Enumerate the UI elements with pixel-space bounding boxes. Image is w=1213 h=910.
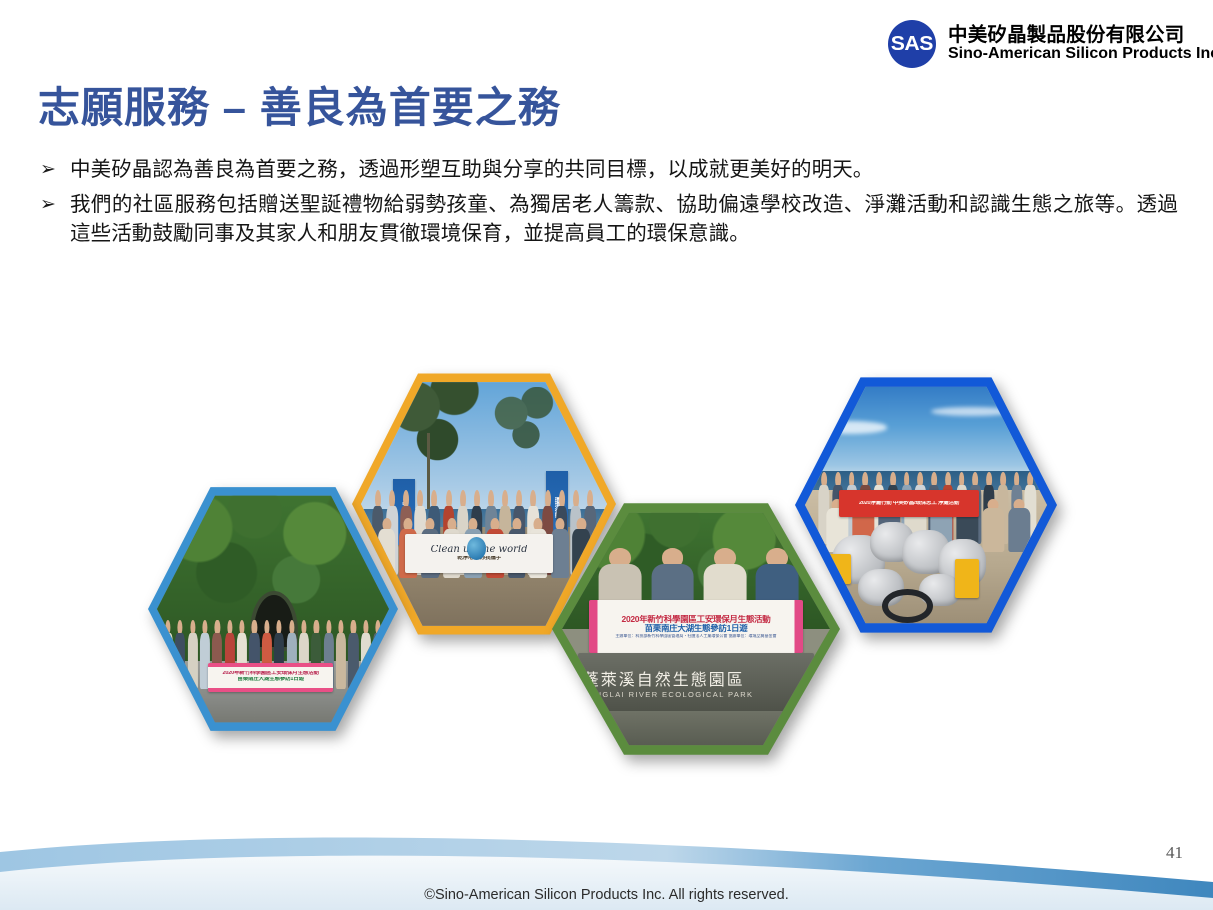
photo-tunnel-tour: 2020年新竹科學園區工安環保月生態活動 苗栗南庄大湖生態參訪1日遊 [157,491,389,727]
page-title: 志願服務 – 善良為首要之務 [38,74,561,135]
footer-copyright: ©Sino-American Silicon Products Inc. All… [0,887,1213,903]
page-number: 41 [1166,843,1183,863]
sas-logo-mark: SAS [888,20,936,68]
bullet-list: ➢ 中美矽晶認為善良為首要之務，透過形塑互助與分享的共同目標，以成就更美好的明天… [38,155,1178,254]
arrow-bullet-icon: ➢ [38,190,70,219]
company-name-chinese: 中美矽晶製品股份有限公司 [948,25,1213,45]
recycle-sign-right [955,559,979,598]
hexagon-photo-cluster: 中美矽晶 環境行動 [0,330,1213,800]
hex-photo-tunnel-tour[interactable]: 2020年新竹科學園區工安環保月生態活動 苗栗南庄大湖生態參訪1日遊 [148,482,398,736]
photo-beach-cleanup: 2020淨灘行動 中美矽晶/環保志工 淨灘活動 [805,382,1047,628]
stone-sign-penglai: 蓬萊溪自然生態園區 PENGLAI RIVER ECOLOGICAL PARK [578,653,814,711]
banner-beach-cleanup: 2020淨灘行動 中美矽晶/環保志工 淨灘活動 [839,490,979,517]
company-logo: SAS 中美矽晶製品股份有限公司 Sino-American Silicon P… [888,20,1213,68]
photo-penglai-river-park: 2020年新竹科學園區工安環保月生態活動 苗栗南庄大湖生態參訪1日遊 主辦單位：… [562,508,830,750]
banner-penglai-event: 2020年新竹科學園區工安環保月生態活動 苗栗南庄大湖生態參訪1日遊 主辦單位：… [589,600,803,653]
bullet-text: 中美矽晶認為善良為首要之務，透過形塑互助與分享的共同目標，以成就更美好的明天。 [70,155,873,184]
list-item: ➢ 中美矽晶認為善良為首要之務，透過形塑互助與分享的共同目標，以成就更美好的明天… [38,155,1178,184]
company-name-english: Sino-American Silicon Products Inc. [948,46,1213,63]
list-item: ➢ 我們的社區服務包括贈送聖誕禮物給弱勢孩童、為獨居老人籌款、協助偏遠學校改造、… [38,190,1178,248]
slide-canvas: SAS 中美矽晶製品股份有限公司 Sino-American Silicon P… [0,0,1213,910]
hex-photo-penglai-river-park[interactable]: 2020年新竹科學園區工安環保月生態活動 苗栗南庄大湖生態參訪1日遊 主辦單位：… [552,498,840,760]
banner-tunnel-tour: 2020年新竹科學園區工安環保月生態活動 苗栗南庄大湖生態參訪1日遊 [208,663,333,691]
bullet-text: 我們的社區服務包括贈送聖誕禮物給弱勢孩童、為獨居老人籌款、協助偏遠學校改造、淨灘… [70,190,1178,248]
company-name-block: 中美矽晶製品股份有限公司 Sino-American Silicon Produ… [948,25,1213,63]
sas-logo-text: SAS [891,33,933,56]
arrow-bullet-icon: ➢ [38,155,70,184]
